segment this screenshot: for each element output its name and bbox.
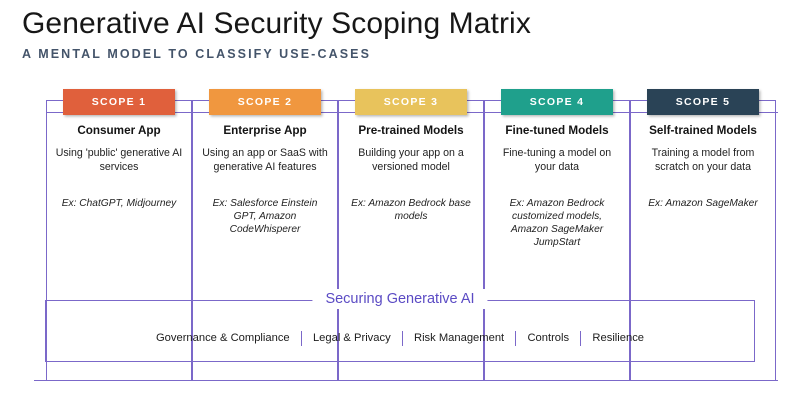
security-pillars: Governance & Compliance Legal & Privacy …: [45, 330, 755, 346]
scope-description-5: Training a model from scratch on your da…: [638, 147, 768, 174]
scope-description-2: Using an app or SaaS with generative AI …: [200, 147, 330, 174]
securing-generative-ai-title: Securing Generative AI: [312, 289, 487, 309]
scope-heading-4: Fine-tuned Models: [492, 123, 622, 138]
scoping-matrix-page: Generative AI Security Scoping Matrix A …: [0, 0, 800, 414]
pillar-controls: Controls: [516, 330, 580, 346]
scope-body-2: Enterprise App Using an app or SaaS with…: [193, 123, 337, 174]
scope-badge-5: SCOPE 5: [647, 89, 759, 115]
scope-heading-2: Enterprise App: [200, 123, 330, 138]
scope-description-3: Building your app on a versioned model: [346, 147, 476, 174]
scope-heading-1: Consumer App: [54, 123, 184, 138]
pillar-risk-management: Risk Management: [403, 330, 515, 346]
scope-example-5: Ex: Amazon SageMaker: [631, 197, 775, 210]
scope-matrix: SCOPE 1 Consumer App Using 'public' gene…: [0, 0, 800, 414]
scope-body-5: Self-trained Models Training a model fro…: [631, 123, 775, 174]
scope-heading-5: Self-trained Models: [638, 123, 768, 138]
scope-body-1: Consumer App Using 'public' generative A…: [47, 123, 191, 174]
scope-badge-2: SCOPE 2: [209, 89, 321, 115]
scope-example-1: Ex: ChatGPT, Midjourney: [47, 197, 191, 210]
scope-example-2: Ex: Salesforce Einstein GPT, Amazon Code…: [193, 197, 337, 236]
scope-example-4: Ex: Amazon Bedrock customized models, Am…: [485, 197, 629, 249]
connector-bottom-2: [192, 380, 338, 381]
scope-description-4: Fine-tuning a model on your data: [492, 147, 622, 174]
connector-bottom-5: [630, 380, 778, 381]
scope-badge-3: SCOPE 3: [355, 89, 467, 115]
scope-example-3: Ex: Amazon Bedrock base models: [339, 197, 483, 223]
scope-body-4: Fine-tuned Models Fine-tuning a model on…: [485, 123, 629, 174]
scope-badge-4: SCOPE 4: [501, 89, 613, 115]
connector-bottom-1: [34, 380, 192, 381]
scope-badge-1: SCOPE 1: [63, 89, 175, 115]
connector-bottom-3: [338, 380, 484, 381]
connector-bottom-4: [484, 380, 630, 381]
scope-body-3: Pre-trained Models Building your app on …: [339, 123, 483, 174]
pillar-legal-privacy: Legal & Privacy: [302, 330, 402, 346]
pillar-resilience: Resilience: [581, 330, 655, 346]
scope-description-1: Using 'public' generative AI services: [54, 147, 184, 174]
scope-heading-3: Pre-trained Models: [346, 123, 476, 138]
pillar-governance-compliance: Governance & Compliance: [145, 330, 301, 346]
